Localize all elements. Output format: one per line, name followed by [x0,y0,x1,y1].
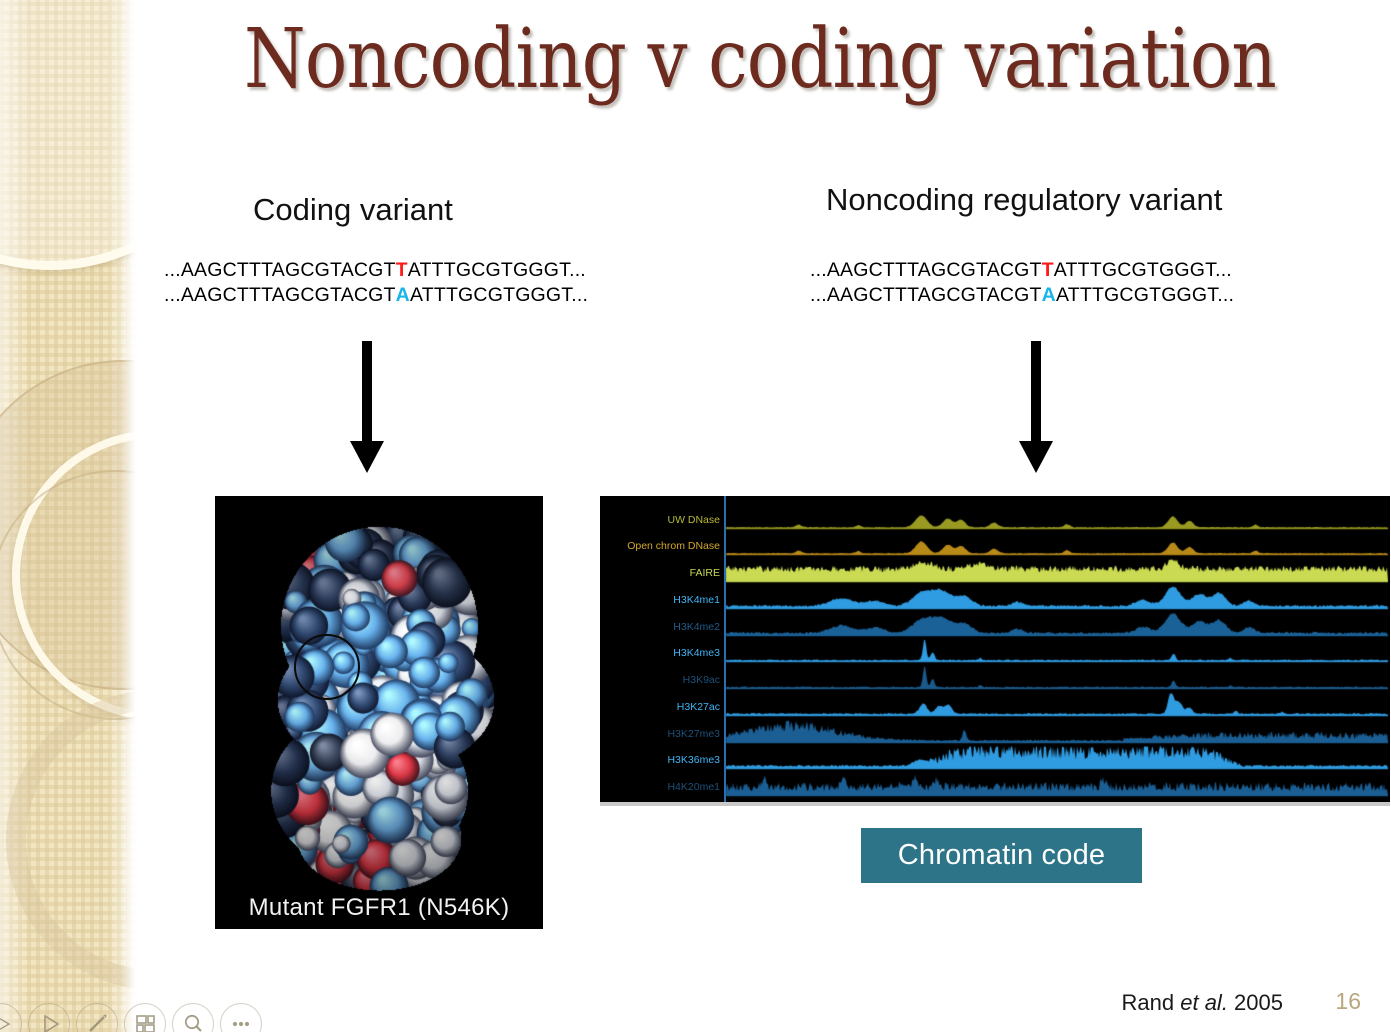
browser-position-guide [724,496,726,806]
protein-figure-caption: Mutant FGFR1 (N546K) [215,894,543,922]
pen-icon[interactable] [76,1003,118,1032]
citation-etal: et al. [1180,990,1228,1015]
track-label-open-chrom-dnase: Open chrom DNase [627,541,724,552]
sequence-suffix: ATTTGCGTGGGT... [410,284,588,306]
presentation-slide: Noncoding v coding variation Coding vari… [0,0,1391,1032]
citation-author: Rand [1122,990,1181,1015]
chromatin-code-label: Chromatin code [861,828,1142,883]
track-label-h3k4me3: H3K4me3 [673,648,724,659]
magnifier-icon[interactable] [172,1003,214,1032]
previous-slide-icon[interactable] [0,1003,22,1032]
chromatin-code-text: Chromatin code [898,839,1106,872]
down-arrow-icon [344,341,390,480]
noncoding-variant-heading: Noncoding regulatory variant [826,182,1222,218]
sequence-suffix: ATTTGCGTGGGT... [1054,259,1232,281]
noncoding-variant-sequences: ...AAGCTTTAGCGTACGTTATTTGCGTGGGT... ...A… [810,258,1234,308]
sequence-line-reference: ...AAGCTTTAGCGTACGTTATTTGCGTGGGT... [164,258,588,283]
mutation-highlight-circle [294,634,360,700]
track-label-uw-dnase: UW DNase [667,515,724,526]
sequence-suffix: ATTTGCGTGGGT... [408,259,586,281]
sequence-prefix: ...AAGCTTTAGCGTACGT [164,284,396,306]
decorative-sidebar [0,0,136,1032]
track-label-h3k4me1: H3K4me1 [673,595,724,606]
track-label-h3k27me3: H3K27me3 [667,729,724,740]
decorative-arc-top-ring [0,0,136,270]
slide-number: 16 [1335,988,1361,1015]
decorative-arc-bottom-ring [6,690,136,990]
slide-title: Noncoding v coding variation [235,16,1284,105]
grid-icon[interactable] [124,1003,166,1032]
sequence-line-alternate: ...AAGCTTTAGCGTACGTAATTTGCGTGGGT... [164,283,588,308]
chromatin-browser-figure: UW DNaseOpen chrom DNaseFAIREH3K4me1H3K4… [600,496,1390,806]
citation-year: 2005 [1228,990,1283,1015]
track-label-h3k36me3: H3K36me3 [667,755,724,766]
sequence-line-reference: ...AAGCTTTAGCGTACGTTATTTGCGTGGGT... [810,258,1234,283]
sequence-prefix: ...AAGCTTTAGCGTACGT [810,284,1042,306]
presentation-controls[interactable] [0,1000,215,1032]
alternate-base: A [396,284,410,306]
play-icon[interactable] [28,1003,70,1032]
track-label-h3k27ac: H3K27ac [677,702,724,713]
track-label-column: UW DNaseOpen chrom DNaseFAIREH3K4me1H3K4… [600,496,724,806]
track-label-h3k4me2: H3K4me2 [673,622,724,633]
citation: Rand et al. 2005 [1122,990,1283,1016]
sequence-suffix: ATTTGCGTGGGT... [1056,284,1234,306]
more-icon[interactable] [220,1003,262,1032]
sequence-prefix: ...AAGCTTTAGCGTACGT [810,259,1042,281]
alternate-base: A [1042,284,1056,306]
coding-variant-sequences: ...AAGCTTTAGCGTACGTTATTTGCGTGGGT... ...A… [164,258,588,308]
protein-structure-figure: Mutant FGFR1 (N546K) [215,496,543,929]
track-label-faire: FAIRE [690,568,724,579]
track-label-h4k20me1: H4K20me1 [667,782,724,793]
sequence-line-alternate: ...AAGCTTTAGCGTACGTAATTTGCGTGGGT... [810,283,1234,308]
coding-variant-heading: Coding variant [253,192,453,228]
track-label-h3k9ac: H3K9ac [683,675,724,686]
reference-base: T [396,259,408,281]
protein-surface-render [215,496,543,929]
reference-base: T [1042,259,1054,281]
sequence-prefix: ...AAGCTTTAGCGTACGT [164,259,396,281]
down-arrow-icon [1013,341,1059,480]
